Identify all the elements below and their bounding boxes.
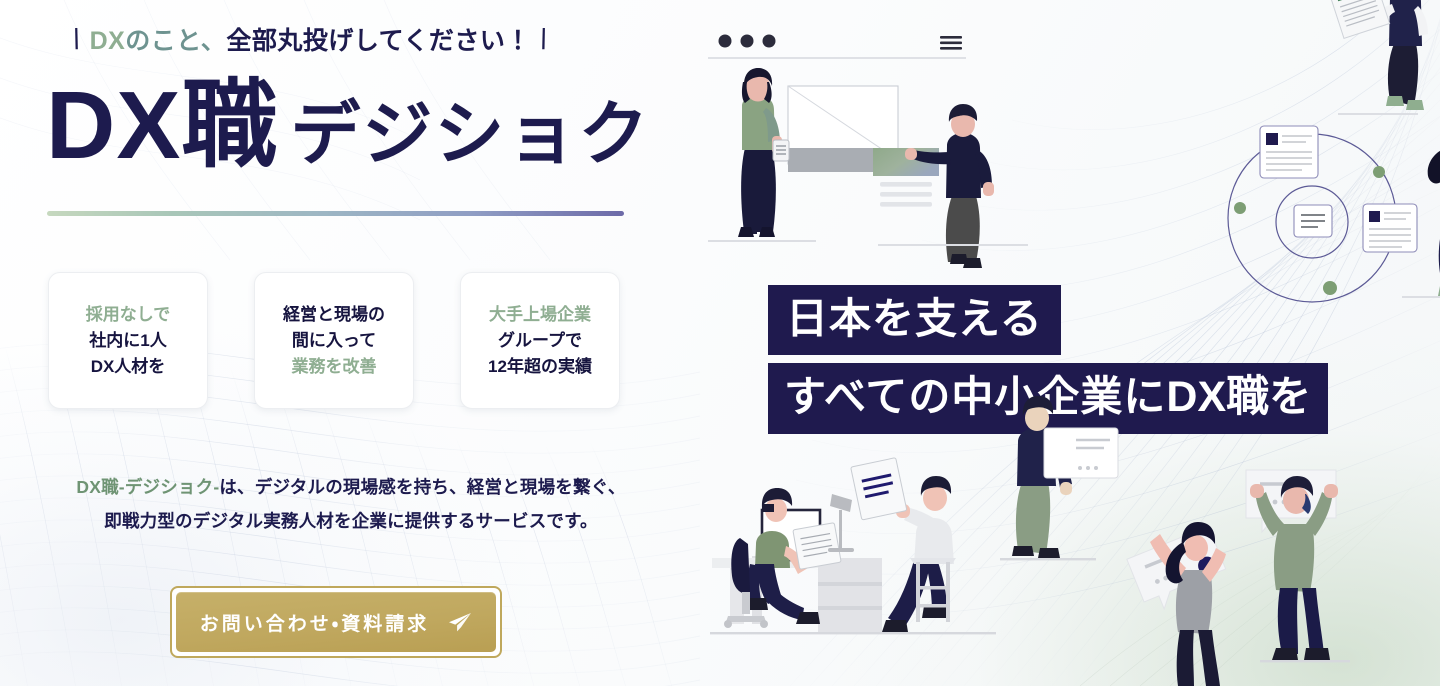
eyebrow-slash-right: / [536,26,552,55]
office-work-illustration [700,446,1120,686]
banner-line2-part-c: を [1269,373,1312,420]
brand-logo: DX職デジショク [46,78,650,174]
brand-logo-underline [47,211,624,216]
orbit-node [1373,166,1385,178]
window-dot [719,35,732,48]
ground-line [710,632,996,634]
feature-card-line: 間に入って [292,332,376,349]
brand-logo-sub: デジショク [290,99,650,169]
feature-card-line: 業務を改善 [292,358,377,375]
document-card-right [1363,204,1417,252]
contact-cta-inner[interactable]: お問い合わせ・資料請求 [176,592,496,652]
hero-illustration-column: 日本を支える すべての中小企業にDX職を [700,0,1440,686]
lead-brand-name: DX職-デジショク- [76,477,219,497]
paper-plane-icon [446,611,472,633]
eyebrow-segment-mid: のこと、 [125,27,226,55]
brand-logo-main: DX職 [46,78,278,174]
feature-card-line: DX人材を [91,358,166,375]
feature-card-line: グループで [498,332,582,349]
hero-banner-line2: すべての中小企業にDX職を [768,363,1328,434]
eyebrow-segment-green: DX [90,27,126,55]
feature-card-line: 大手上場企業 [489,306,591,323]
eyebrow-slash-left: \ [68,26,84,55]
feature-card-line: 採用なしで [86,306,171,323]
hamburger-menu-icon [940,36,962,50]
feature-card: 採用なしで 社内に1人 DX人材を [48,272,208,409]
orbit-node [1234,202,1246,214]
man-carrying-paper [1330,0,1428,115]
browser-chrome [708,35,966,60]
feature-card-line: 経営と現場の [283,306,385,323]
hero-banner-group: 日本を支える すべての中小企業にDX職を [768,285,1328,434]
hero-text-column: \DXのこと、全部丸投げしてください！/ DX職デジショク 採用なしで 社内に1… [0,0,700,686]
contact-cta-label: お問い合わせ・資料請求 [200,609,429,636]
feature-card-line: 社内に1人 [89,332,166,349]
man-with-bubble-card [1246,470,1350,662]
lead-line1-rest: は、デジタルの現場感を持ち、経営と現場を繋ぐ、 [219,477,625,497]
hero-section: \DXのこと、全部丸投げしてください！/ DX職デジショク 採用なしで 社内に1… [0,0,1440,686]
feature-card-line: 12年超の実績 [488,358,592,375]
eyebrow-segment-dark: 全部丸投げしてください！ [226,27,531,55]
feature-card: 大手上場企業 グループで 12年超の実績 [460,272,620,409]
hero-eyebrow: \DXのこと、全部丸投げしてください！/ [72,26,548,55]
contact-cta-button[interactable]: お問い合わせ・資料請求 [170,586,502,658]
speech-bubble-holders-illustration [1120,436,1440,686]
window-dot [741,35,754,48]
document-card-center [1294,205,1332,237]
text-lines [880,182,932,207]
window-dot [763,35,776,48]
feature-card-list: 採用なしで 社内に1人 DX人材を 経営と現場の 間に入って 業務を改善 大手上… [48,272,620,409]
banner-line2-part-a: すべての中小企業に [784,373,1166,420]
lead-line2: 即戦力型のデジタル実務人材を企業に提供するサービスです。 [104,511,598,531]
hero-lead-text: DX職-デジショク-は、デジタルの現場感を持ち、経営と現場を繋ぐ、 即戦力型のデ… [46,470,656,538]
feature-card: 経営と現場の 間に入って 業務を改善 [254,272,414,409]
hero-banner-line1: 日本を支える [768,285,1061,355]
document-card-top [1260,126,1318,178]
woman-with-bubble-card [1127,522,1231,686]
banner-line2-part-b: DX職 [1166,373,1269,421]
